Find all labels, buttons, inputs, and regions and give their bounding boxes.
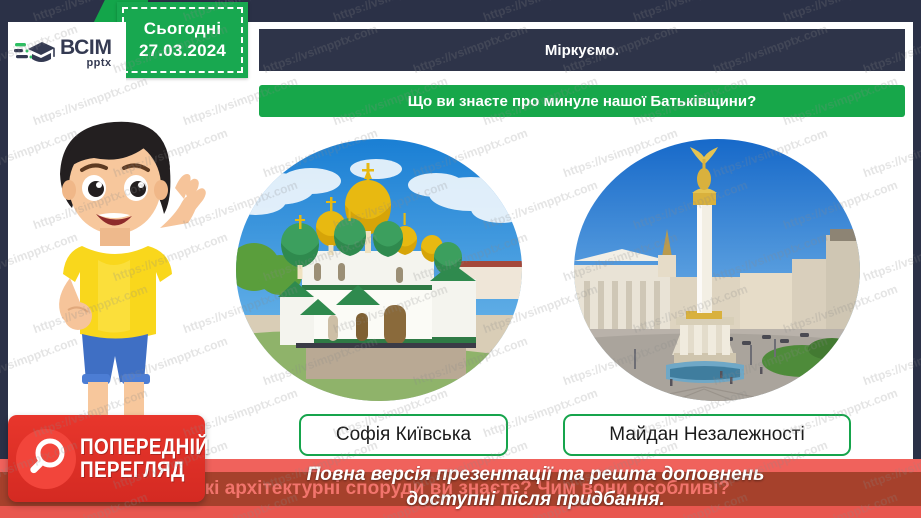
boy-character-illustration	[12, 110, 212, 422]
graduation-cap-icon	[14, 36, 56, 70]
preview-badge-line2: ПЕРЕГЛЯД	[80, 459, 209, 481]
maidan-nezalezhnosti-photo	[574, 139, 860, 401]
preview-badge-line1: ПОПЕРЕДНІЙ	[80, 436, 209, 458]
today-date: 27.03.2024	[139, 40, 226, 62]
brand-logo: ВСІМ pptx	[8, 22, 126, 84]
today-label: Сьогодні	[144, 18, 222, 40]
section-title-banner: Міркуємо.	[259, 29, 905, 71]
today-date-card: Сьогодні 27.03.2024	[117, 2, 248, 78]
photo-caption-right: Майдан Незалежності	[563, 414, 851, 456]
photo-caption-right-text: Майдан Незалежності	[609, 424, 804, 446]
question-banner-text: Що ви знаєте про минуле нашої Батьківщин…	[408, 93, 757, 110]
section-title-text: Міркуємо.	[545, 42, 619, 59]
purchase-notice-line1: Повна версія презентації та решта доповн…	[307, 462, 765, 487]
preview-badge: ПОПЕРЕДНІЙ ПЕРЕГЛЯД	[8, 415, 205, 502]
magnifier-icon	[16, 429, 76, 489]
brand-logo-text: ВСІМ pptx	[60, 38, 112, 68]
saint-sophia-cathedral-photo	[236, 139, 522, 401]
brand-suffix: pptx	[60, 58, 112, 68]
purchase-notice-line2: доступні після придбання.	[406, 487, 665, 512]
photo-caption-left: Софія Київська	[299, 414, 508, 456]
presentation-slide: Сьогодні 27.03.2024 ВСІМ pptx Міркуємо. …	[0, 0, 921, 518]
preview-badge-text: ПОПЕРЕДНІЙ ПЕРЕГЛЯД	[80, 436, 230, 481]
photo-caption-left-text: Софія Київська	[336, 424, 471, 446]
purchase-notice-overlay: Повна версія презентації та решта доповн…	[150, 458, 921, 516]
brand-name: ВСІМ	[60, 38, 112, 58]
question-banner: Що ви знаєте про минуле нашої Батьківщин…	[259, 85, 905, 117]
